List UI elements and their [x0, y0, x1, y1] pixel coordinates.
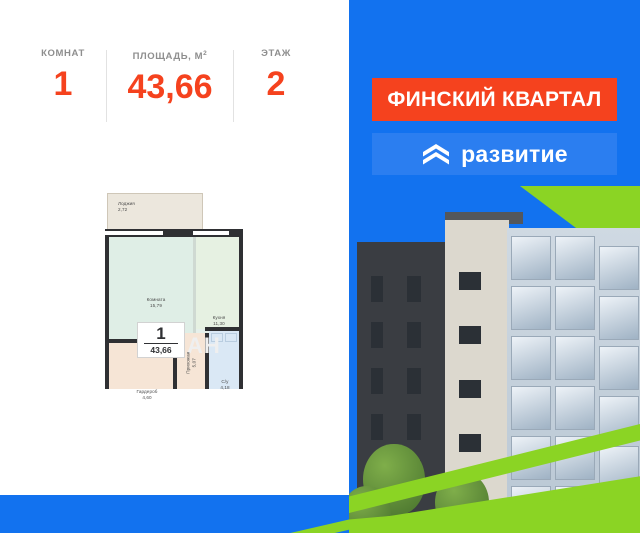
- building-photo: [349, 186, 640, 533]
- interior-wall: [193, 237, 196, 333]
- room-area: 2,72: [118, 207, 200, 213]
- stat-area-value: 43,66: [127, 67, 212, 107]
- balcony-glass: [555, 286, 595, 330]
- window: [407, 322, 421, 348]
- developer-name: развитие: [461, 141, 568, 168]
- stat-rooms: КОМНАТ 1: [20, 48, 106, 104]
- listing-image: КОМНАТ 1 ПЛОЩАДЬ, М2 43,66 ЭТАЖ 2: [0, 0, 640, 533]
- wall-segment: [229, 229, 243, 237]
- badge-area: 43,66: [150, 345, 171, 355]
- complex-logo: ФИНСКИЙ КВАРТАЛ: [372, 78, 617, 121]
- branding-panel: ФИНСКИЙ КВАРТАЛ развитие: [349, 0, 640, 533]
- window: [459, 326, 481, 344]
- green-ray-group: [349, 353, 640, 533]
- stat-area-label-text: ПЛОЩАДЬ, М: [133, 51, 204, 62]
- floor-plan-drawing: ЦИАН Комната 15,79 Кухня 11,30 Гардероб …: [100, 193, 248, 389]
- chevron-stack-icon: [421, 141, 451, 167]
- window-segment: [105, 229, 163, 237]
- window-segment: [193, 229, 229, 237]
- wall-segment: [163, 229, 193, 237]
- interior-wall: [205, 327, 243, 331]
- stat-floor: ЭТАЖ 2: [234, 48, 318, 104]
- balcony-glass: [599, 246, 639, 290]
- apartment-outline: ЦИАН Комната 15,79 Кухня 11,30 Гардероб …: [105, 233, 243, 389]
- room-label-living: Комната 15,79: [115, 297, 197, 308]
- developer-logo: развитие: [372, 133, 617, 175]
- stat-area-label: ПЛОЩАДЬ, М2: [133, 48, 208, 63]
- complex-name: ФИНСКИЙ КВАРТАЛ: [387, 88, 601, 112]
- window-band: [105, 229, 243, 237]
- room-area: 11,30: [197, 321, 241, 327]
- card-bottom-band: [0, 495, 349, 533]
- stat-area: ПЛОЩАДЬ, М2 43,66: [107, 48, 233, 107]
- window: [371, 322, 383, 348]
- room-label-balcony: Лоджия 2,72: [110, 201, 200, 212]
- stat-area-superscript: 2: [203, 50, 207, 57]
- balcony-glass: [511, 286, 551, 330]
- room-area: 5,07: [191, 341, 197, 385]
- stat-rooms-label: КОМНАТ: [41, 48, 85, 60]
- badge-divider: [144, 343, 178, 344]
- room-label-kitchen: Кухня 11,30: [197, 315, 241, 326]
- room-area: 4,60: [115, 395, 179, 401]
- stat-floor-label: ЭТАЖ: [261, 48, 291, 60]
- bathroom-fixture: [225, 333, 237, 342]
- stat-floor-value: 2: [267, 64, 286, 104]
- stat-rooms-value: 1: [54, 64, 73, 104]
- balcony-glass: [555, 236, 595, 280]
- balcony-glass: [511, 236, 551, 280]
- window: [371, 276, 383, 302]
- balcony-glass: [599, 296, 639, 340]
- room-area: 15,79: [115, 303, 197, 309]
- window: [407, 276, 421, 302]
- plan-summary-badge: 1 43,66: [137, 322, 185, 358]
- room-label-wardrobe: Гардероб 4,60: [115, 389, 179, 400]
- floor-plan-card: КОМНАТ 1 ПЛОЩАДЬ, М2 43,66 ЭТАЖ 2: [0, 0, 349, 495]
- room-label-bathroom: С/у 4,18: [209, 379, 241, 390]
- room-area: 4,18: [209, 385, 241, 391]
- badge-room-count: 1: [156, 325, 165, 342]
- bathroom-fixture: [211, 333, 223, 342]
- window: [459, 272, 481, 290]
- room-label-hallway: Прихожая 5,07: [185, 341, 196, 385]
- apartment-stats: КОМНАТ 1 ПЛОЩАДЬ, М2 43,66 ЭТАЖ 2: [20, 48, 320, 122]
